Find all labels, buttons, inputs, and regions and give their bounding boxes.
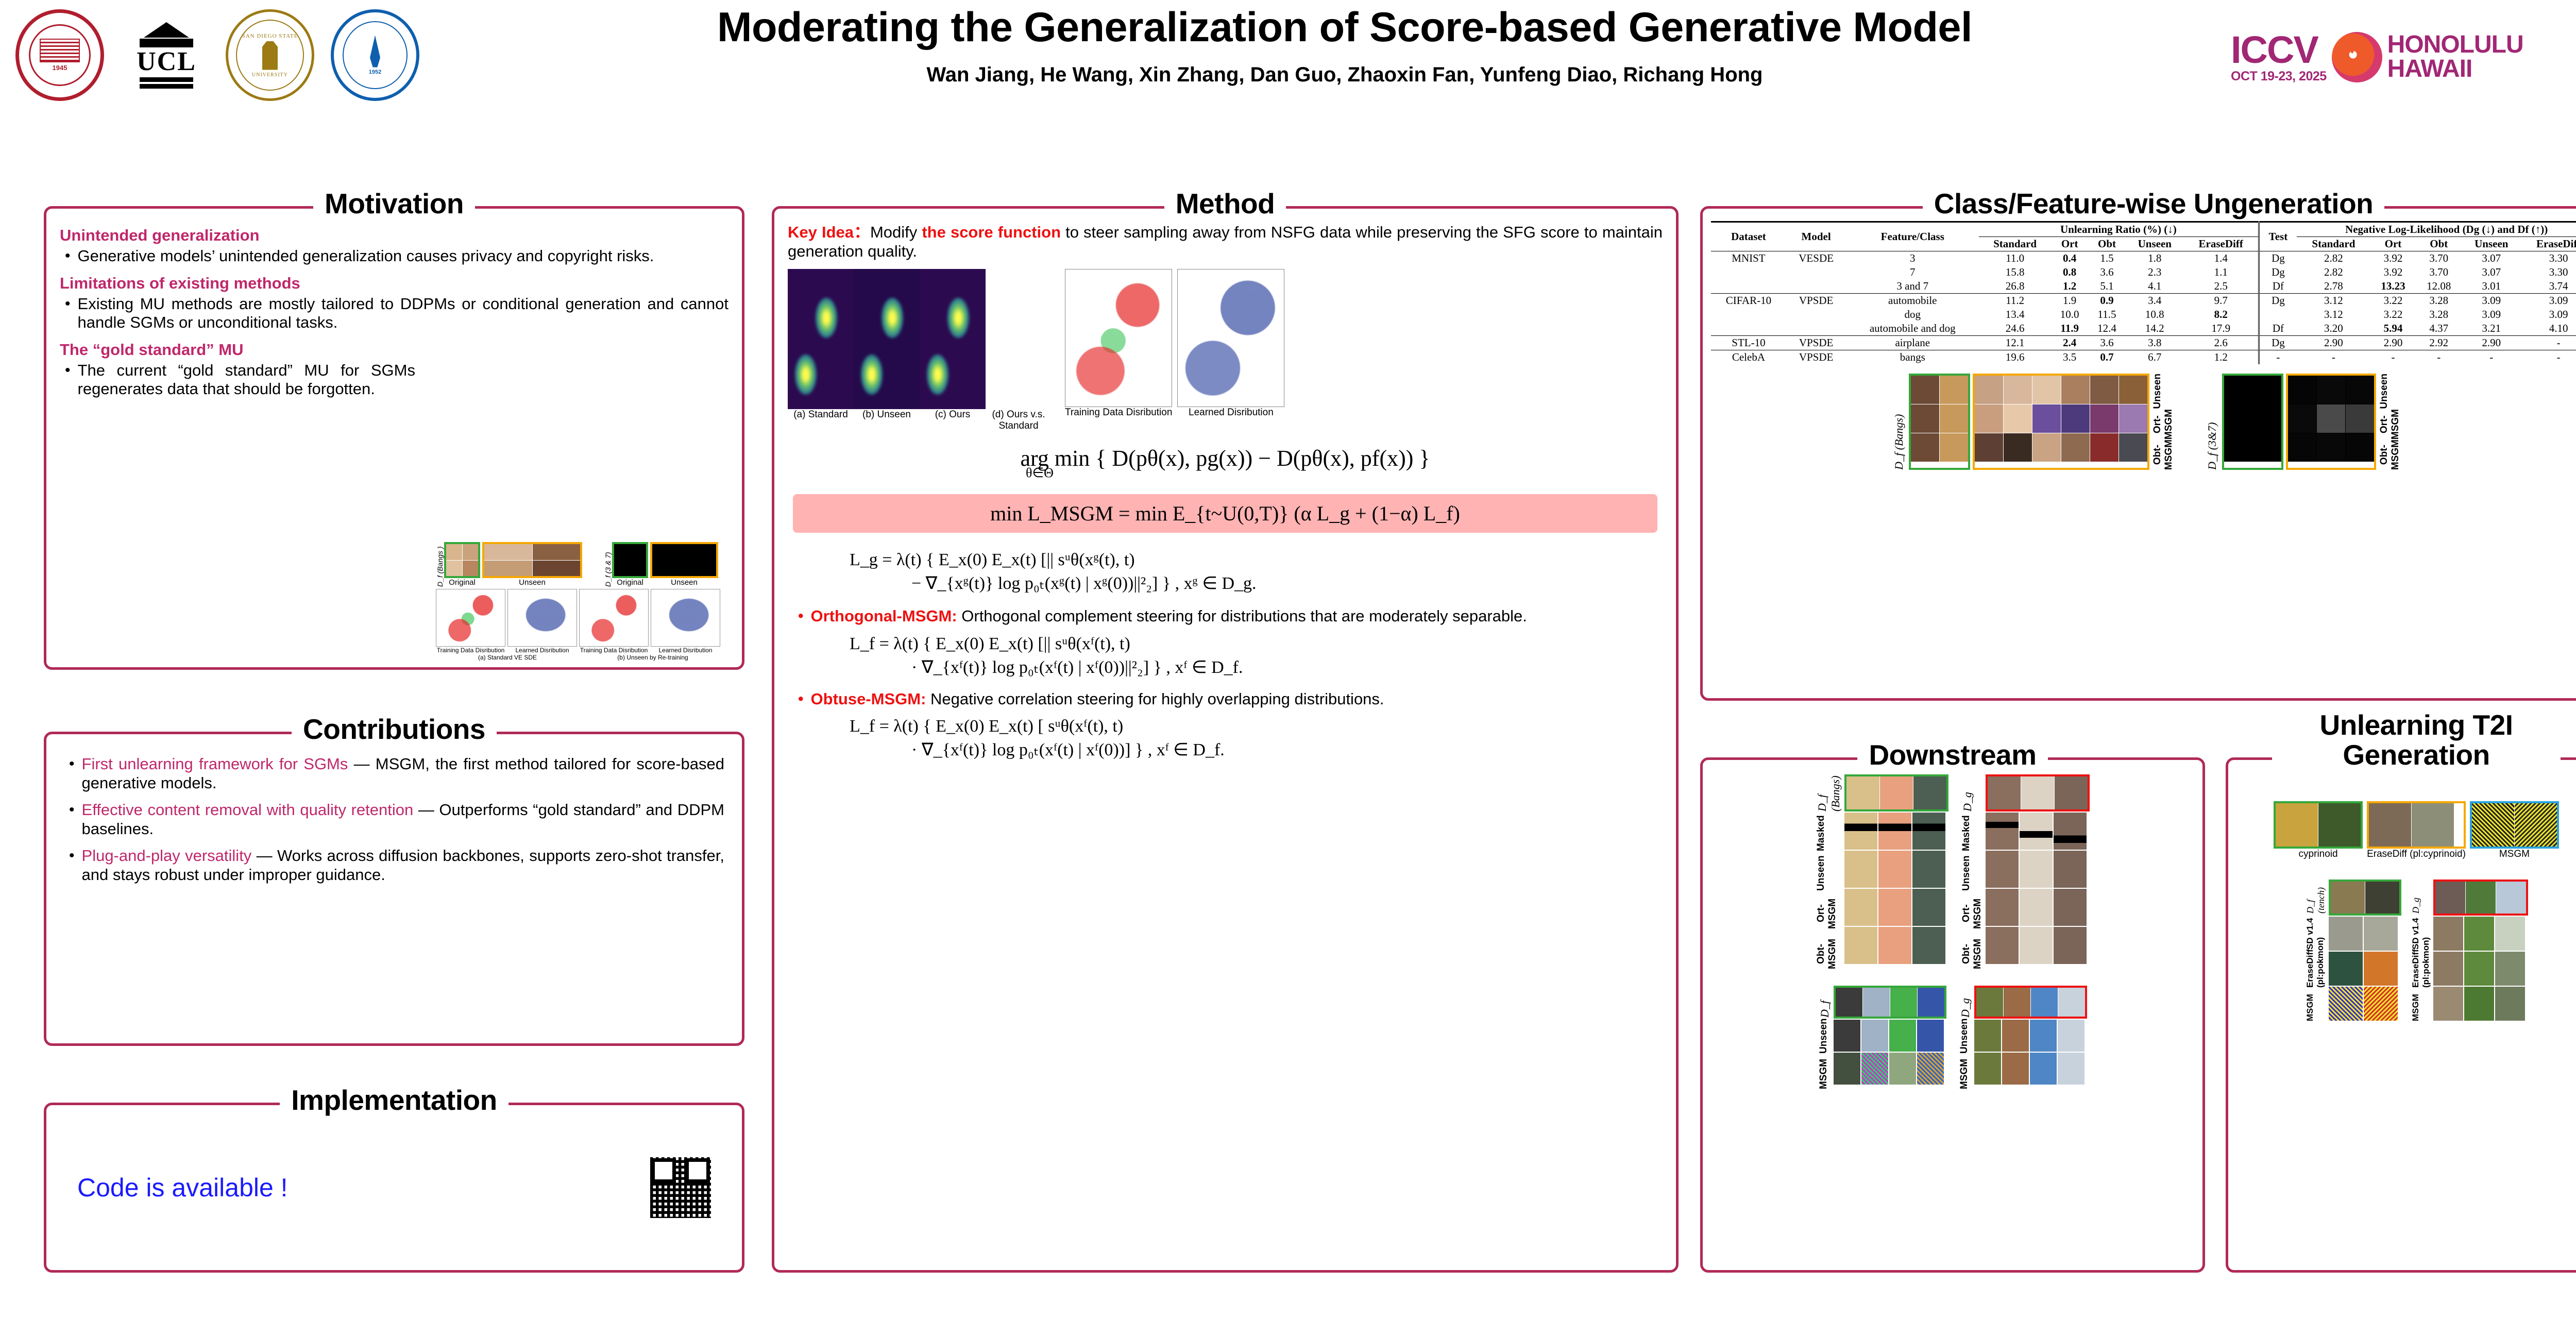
table-row: 3 and 726.81.25.14.12.5Df2.7813.2312.083… xyxy=(1711,279,2576,294)
t2i-left-row-2: MSGM xyxy=(2305,991,2327,1025)
method-fig-caption-5: Learned Disribution xyxy=(1177,407,1284,418)
iccv-conference-logo: ICCV OCT 19-23, 2025 HONOLULU HAWAII xyxy=(2231,31,2523,83)
cell-nll: 3.30 xyxy=(2521,265,2576,279)
cell-nll: - xyxy=(2521,350,2576,365)
equation-msgm-text: min L_MSGM = min E_{t~U(0,T)} (α L_g + (… xyxy=(990,502,1460,525)
cell-nll: 3.22 xyxy=(2370,294,2416,308)
th-nll-ort: Ort xyxy=(2370,237,2416,251)
mot-collabel-2: Original xyxy=(612,578,648,587)
cell-unlearning-ratio: 13.4 xyxy=(1979,308,2051,322)
cell-unlearning-ratio: 4.1 xyxy=(2126,279,2184,294)
th-group-unlearning: Unlearning Ratio (%) (↓) xyxy=(1979,222,2259,237)
t2i-erasediff-right xyxy=(2433,952,2528,986)
bullet-dot-icon: • xyxy=(65,361,71,399)
ds-grid-unseen-0 xyxy=(1844,851,1948,888)
t2i-left-col-label: D_f (tench) xyxy=(2305,880,2327,914)
cell-nll: - xyxy=(2370,350,2416,365)
mot-collabel-3: Unseen xyxy=(650,578,718,587)
cell-unlearning-ratio: 11.5 xyxy=(2088,308,2125,322)
ucl-logo: UCL xyxy=(121,9,212,101)
scatter-plot-learned-a xyxy=(507,589,577,647)
th-nll-obt: Obt xyxy=(2416,237,2462,251)
sdsu-top-text: SAN DIEGO STATE xyxy=(242,33,298,39)
motivation-fig-right-rowlabel: D_f (3 & 7) xyxy=(604,542,612,587)
cell-unlearning-ratio: 11.0 xyxy=(1979,251,2051,266)
th-dataset: Dataset xyxy=(1711,222,1786,251)
method-fig-caption-4: Training Data Disribution xyxy=(1065,407,1172,418)
cell-dataset: CIFAR-10 xyxy=(1711,294,1786,308)
cell-model xyxy=(1786,308,1846,322)
cell-unlearning-ratio: 1.8 xyxy=(2126,251,2184,266)
cell-unlearning-ratio: 2.4 xyxy=(2051,336,2088,350)
downstream-block-0: D_f (Bangs) Masked Unseen Ort- MSGM Obt-… xyxy=(1816,774,1948,972)
th-ur-erasediff: EraseDiff xyxy=(2184,237,2259,251)
cf-row-label-ort-msgm-2: Ort- MSGM xyxy=(2379,409,2401,439)
cf-row-label-obt-msgm-2: Obt- MSGM xyxy=(2379,439,2401,470)
cell-test: Dg xyxy=(2259,265,2297,279)
cell-nll: 2.90 xyxy=(2297,336,2370,350)
cell-unlearning-ratio: 24.6 xyxy=(1979,322,2051,336)
cell-dataset: MNIST xyxy=(1711,251,1786,266)
t2i-sdv14-left xyxy=(2329,917,2401,951)
cell-unlearning-ratio: 6.7 xyxy=(2126,350,2184,365)
contribution-item-0: • First unlearning framework for SGMs — … xyxy=(69,755,724,792)
cell-unlearning-ratio: 0.9 xyxy=(2088,294,2125,308)
cf-row-label-ort-msgm: Ort- MSGM xyxy=(2152,409,2175,439)
t2i-caption-0: cyprinoid xyxy=(2274,849,2363,860)
cell-nll: - xyxy=(2521,336,2576,350)
t2i-sdv14-right xyxy=(2433,917,2528,951)
method-panel: Method Key Idea：Modify the score functio… xyxy=(772,206,1679,1273)
ds-col-label-3: D_g xyxy=(1959,986,1972,1018)
equation-lf-obtuse: L_f = λ(t) { E_x(0) E_x(t) [ sᵘθ(xᶠ(t), … xyxy=(793,717,1657,760)
cell-unlearning-ratio: 12.4 xyxy=(2088,322,2125,336)
variant-desc-1: Negative correlation steering for highly… xyxy=(926,690,1384,708)
motivation-bullet-1: • Existing MU methods are mostly tailore… xyxy=(65,295,728,332)
t2i-panel: Unlearning T2I Generation cyprinoid Eras… xyxy=(2226,757,2576,1273)
motivation-bullet-0: • Generative models’ unintended generali… xyxy=(65,247,728,266)
th-model: Model xyxy=(1786,222,1846,251)
scatter-caption-0: Training Data Disribution xyxy=(436,647,505,654)
cell-unlearning-ratio: 0.7 xyxy=(2088,350,2125,365)
cell-unlearning-ratio: 1.9 xyxy=(2051,294,2088,308)
contribution-lead-1: Effective content removal with quality r… xyxy=(82,801,414,819)
downstream-block-2: D_f Unseen MSGM xyxy=(1818,986,1946,1090)
cell-test: Df xyxy=(2259,279,2297,294)
cell-nll: - xyxy=(2462,350,2521,365)
class-feature-title: Class/Feature-wise Ungeneration xyxy=(1923,188,2385,219)
scatter-caption-3: Learned Disribution xyxy=(651,647,720,654)
contribution-lead-0: First unlearning framework for SGMs xyxy=(82,755,348,773)
cell-nll: 3.09 xyxy=(2521,294,2576,308)
downstream-block-1: D_g Masked Unseen Ort- MSGM Obt- MSGM xyxy=(1961,774,2090,972)
vector-field-ours-vs-standard xyxy=(986,269,1052,409)
author-list: Wan Jiang, He Wang, Xin Zhang, Dan Guo, … xyxy=(495,63,2195,87)
motivation-figure: D_f (Bangs ) Original Unseen xyxy=(436,542,735,661)
cell-nll: 3.70 xyxy=(2416,251,2462,266)
cell-test: - xyxy=(2259,350,2297,365)
cell-nll: - xyxy=(2297,350,2370,365)
ds-col-label-0: D_f (Bangs) xyxy=(1816,774,1842,811)
table-row: MNISTVESDE311.00.41.51.81.4Dg2.823.923.7… xyxy=(1711,251,2576,266)
cell-nll: 2.92 xyxy=(2416,336,2462,350)
cell-unlearning-ratio: 2.3 xyxy=(2126,265,2184,279)
scatter-caption-2: Training Data Disribution xyxy=(579,647,649,654)
cell-nll: 2.82 xyxy=(2297,265,2370,279)
ds-row-obt-1: Obt- MSGM xyxy=(1961,935,1984,972)
logo-row: 1945 UCL SAN DIEGO STATE UNIVERSITY 1952 xyxy=(15,9,422,101)
san-diego-state-university-logo: SAN DIEGO STATE UNIVERSITY xyxy=(226,9,317,101)
bullet-dot-icon: • xyxy=(69,755,75,792)
motivation-bullet-text-1: Existing MU methods are mostly tailored … xyxy=(78,295,728,332)
cell-nll: 4.10 xyxy=(2521,322,2576,336)
cell-nll: 4.37 xyxy=(2416,322,2462,336)
ds-row-ort-0: Ort- MSGM xyxy=(1816,895,1842,932)
th-nll-standard: Standard xyxy=(2297,237,2370,251)
bullet-dot-icon: • xyxy=(69,847,75,884)
t2i-right-block: D_g SD v1.4 EraseDiff (pl:pokmon) MSGM xyxy=(2411,880,2528,1025)
ds-grid-cifar-msgm xyxy=(1834,1053,1946,1085)
ds-row-unseen-0: Unseen xyxy=(1816,855,1842,892)
t2i-right-row-1: EraseDiff (pl:pokmon) xyxy=(2411,954,2431,988)
method-scatter-learned xyxy=(1177,269,1284,407)
t2i-msgm-grid xyxy=(2472,803,2557,847)
beihang-university-logo: 1952 xyxy=(331,9,422,101)
ds-col-label-2: D_f xyxy=(1818,986,1832,1018)
method-figure: (a) Standard (b) Unseen (c) Ours (d) Our… xyxy=(774,261,1676,432)
equation-lg-line2: − ∇_{xᵍ(t)} log p₀ₜ(xᵍ(t) | xᵍ(0))||²₂] … xyxy=(850,573,1657,594)
cell-nll: 2.90 xyxy=(2462,336,2521,350)
equation-objective-subscript: θ∈Θ xyxy=(422,465,1657,481)
cell-unlearning-ratio: 26.8 xyxy=(1979,279,2051,294)
t2i-erasediff-grid xyxy=(2369,803,2464,847)
cell-feature: automobile and dog xyxy=(1846,322,1979,336)
cell-dataset xyxy=(1711,265,1786,279)
cell-unlearning-ratio: 1.2 xyxy=(2051,279,2088,294)
sdsu-bottom-text: UNIVERSITY xyxy=(252,72,288,78)
cell-model xyxy=(1786,279,1846,294)
cell-unlearning-ratio: 3.8 xyxy=(2126,336,2184,350)
motivation-head-1: Limitations of existing methods xyxy=(60,274,728,293)
t2i-msgm-right xyxy=(2433,987,2528,1021)
page-title: Moderating the Generalization of Score-b… xyxy=(495,5,2195,50)
t2i-cyprinoid-grid xyxy=(2276,803,2361,847)
contribution-item-2: • Plug-and-play versatility — Works acro… xyxy=(69,847,724,884)
table-row: automobile and dog24.611.912.414.217.9Df… xyxy=(1711,322,2576,336)
method-fig-caption-0: (a) Standard xyxy=(788,409,854,432)
cell-unlearning-ratio: 12.1 xyxy=(1979,336,2051,350)
vector-field-unseen xyxy=(854,269,920,409)
ds-grid-cifar-dg-msgm xyxy=(1974,1053,2087,1085)
mot-subcaption-1: (b) Unseen by Re-training xyxy=(581,654,724,661)
cell-unlearning-ratio: 1.1 xyxy=(2184,265,2259,279)
ds-row-unseen-1: Unseen xyxy=(1961,855,1984,892)
ds-row-ort-1: Ort- MSGM xyxy=(1961,895,1984,932)
hefei-university-of-technology-logo: 1945 xyxy=(15,9,107,101)
t2i-dg-grid xyxy=(2435,882,2526,914)
cell-nll: 3.28 xyxy=(2416,294,2462,308)
method-scatter-train xyxy=(1065,269,1172,407)
method-fig-caption-1: (b) Unseen xyxy=(854,409,920,432)
cell-test: Df xyxy=(2259,322,2297,336)
implementation-title: Implementation xyxy=(280,1084,508,1116)
ds-grid-dg xyxy=(1988,776,2088,809)
scatter-caption-1: Learned Disribution xyxy=(507,647,577,654)
ds-grid-obt-0 xyxy=(1844,927,1948,964)
implementation-panel: Implementation Code is available ! xyxy=(44,1103,744,1273)
mot-collabel-1: Unseen xyxy=(482,578,582,587)
cell-unlearning-ratio: 1.5 xyxy=(2088,251,2125,266)
ds-grid-cifar-unseen xyxy=(1834,1020,1946,1052)
cell-unlearning-ratio: 0.8 xyxy=(2051,265,2088,279)
scatter-plot-train-b xyxy=(579,589,649,647)
class-feature-panel: Class/Feature-wise Ungeneration Dataset … xyxy=(1700,206,2576,701)
cell-dataset xyxy=(1711,322,1786,336)
ds-grid-ort-1 xyxy=(1986,889,2090,926)
results-table: Dataset Model Feature/Class Unlearning R… xyxy=(1711,221,2576,364)
motivation-bullet-2: • The current “gold standard” MU for SGM… xyxy=(65,361,415,399)
cell-unlearning-ratio: 0.4 xyxy=(2051,251,2088,266)
table-row: CIFAR-10VPSDEautomobile11.21.90.93.49.7D… xyxy=(1711,294,2576,308)
ds-row-msgm-2: MSGM xyxy=(1818,1058,1832,1090)
t2i-caption-1: EraseDiff (pl:cyprinoid) xyxy=(2367,849,2466,860)
method-variant-0: • Orthogonal-MSGM: Orthogonal complement… xyxy=(798,607,1657,626)
cell-unlearning-ratio: 14.2 xyxy=(2126,322,2184,336)
mnist-unlearned-grid xyxy=(2288,376,2374,462)
cell-nll: 3.92 xyxy=(2370,251,2416,266)
cell-unlearning-ratio: 19.6 xyxy=(1979,350,2051,365)
ds-grid-masked-0 xyxy=(1844,813,1948,850)
cell-nll: 3.74 xyxy=(2521,279,2576,294)
cell-unlearning-ratio: 3.6 xyxy=(2088,265,2125,279)
cell-unlearning-ratio: 11.2 xyxy=(1979,294,2051,308)
cell-unlearning-ratio: 5.1 xyxy=(2088,279,2125,294)
cell-nll: 2.82 xyxy=(2297,251,2370,266)
motivation-bullet-text-2: The current “gold standard” MU for SGMs … xyxy=(78,361,415,399)
ds-row-obt-0: Obt- MSGM xyxy=(1816,935,1842,972)
cell-dataset: CelebA xyxy=(1711,350,1786,365)
scatter-plot-train-a xyxy=(436,589,505,647)
ucl-wordmark: UCL xyxy=(137,48,196,75)
cell-model: VPSDE xyxy=(1786,294,1846,308)
cell-nll: 3.92 xyxy=(2370,265,2416,279)
variant-name-0: Orthogonal-MSGM: xyxy=(811,607,957,625)
celeba-unlearned-grid xyxy=(1975,376,2147,462)
iccv-dates: OCT 19-23, 2025 xyxy=(2231,70,2327,83)
t2i-right-row-2: MSGM xyxy=(2411,991,2431,1025)
mnist-original-grid xyxy=(2224,376,2281,462)
cell-nll: 12.08 xyxy=(2416,279,2462,294)
cell-nll: 2.78 xyxy=(2297,279,2370,294)
poster-header: 1945 UCL SAN DIEGO STATE UNIVERSITY 1952… xyxy=(0,0,2576,160)
cf-row-label-obt-msgm: Obt- MSGM xyxy=(2152,439,2175,470)
cf-row-label-unseen-2: Unseen xyxy=(2379,374,2401,409)
cell-feature: dog xyxy=(1846,308,1979,322)
cell-unlearning-ratio: 2.5 xyxy=(2184,279,2259,294)
code-available-link[interactable]: Code is available ! xyxy=(77,1173,288,1203)
th-nll-unseen: Unseen xyxy=(2462,237,2521,251)
cell-unlearning-ratio: 3.5 xyxy=(2051,350,2088,365)
key-idea-emphasis: the score function xyxy=(922,223,1061,241)
bullet-dot-icon: • xyxy=(65,247,71,266)
mot-subcaption-0: (a) Standard VE SDE xyxy=(436,654,579,661)
th-nll-erasediff: EraseDiff xyxy=(2521,237,2576,251)
t2i-tench-grid xyxy=(2331,882,2399,914)
ds-grid-cifar-dg-unseen xyxy=(1974,1020,2087,1052)
method-title: Method xyxy=(1164,188,1286,219)
iccv-state: HAWAII xyxy=(2387,57,2523,81)
t2i-erasediff-left xyxy=(2329,952,2401,986)
cell-test: Dg xyxy=(2259,294,2297,308)
hibiscus-flower-icon xyxy=(2332,32,2382,82)
mot-collabel-0: Original xyxy=(444,578,480,587)
key-idea-label: Key Idea： xyxy=(788,223,870,241)
downstream-block-3: D_g Unseen MSGM xyxy=(1959,986,2087,1090)
cell-nll: 2.90 xyxy=(2370,336,2416,350)
ds-grid-unseen-1 xyxy=(1986,851,2090,888)
vector-field-ours xyxy=(920,269,986,409)
table-row: dog13.410.011.510.88.23.123.223.283.093.… xyxy=(1711,308,2576,322)
cell-nll: 3.20 xyxy=(2297,322,2370,336)
cell-test xyxy=(2259,308,2297,322)
equation-lf1-line1: L_f = λ(t) { E_x(0) E_x(t) [|| sᵘθ(xᶠ(t)… xyxy=(850,634,1657,654)
t2i-left-row-1: EraseDiff (pl:pokmon) xyxy=(2305,954,2327,988)
scatter-plot-learned-b xyxy=(651,589,720,647)
cell-test: Dg xyxy=(2259,336,2297,350)
motivation-bullet-text-0: Generative models’ unintended generaliza… xyxy=(78,247,654,266)
equation-objective: arg min { D(pθ(x), pg(x)) − D(pθ(x), pf(… xyxy=(793,445,1657,481)
cell-unlearning-ratio: 11.9 xyxy=(2051,322,2088,336)
method-fig-caption-2: (c) Ours xyxy=(920,409,986,432)
th-test: Test xyxy=(2259,222,2297,251)
equation-lf-orthogonal: L_f = λ(t) { E_x(0) E_x(t) [|| sᵘθ(xᶠ(t)… xyxy=(793,634,1657,678)
qr-code-icon[interactable] xyxy=(650,1157,711,1218)
cell-feature: 7 xyxy=(1846,265,1979,279)
cell-nll: 5.94 xyxy=(2370,322,2416,336)
cell-model: VESDE xyxy=(1786,251,1846,266)
ds-grid-masked-1 xyxy=(1986,813,2090,850)
contributions-title: Contributions xyxy=(292,713,497,745)
table-row: STL-10VPSDEairplane12.12.43.63.82.6Dg2.9… xyxy=(1711,336,2576,350)
bullet-dot-icon: • xyxy=(69,801,75,838)
ds-col-label-1: D_g xyxy=(1961,774,1984,811)
downstream-panel: Downstream D_f (Bangs) Masked Unseen Ort… xyxy=(1700,757,2205,1273)
cell-model: VPSDE xyxy=(1786,336,1846,350)
cell-model: VPSDE xyxy=(1786,350,1846,365)
cell-nll: 3.07 xyxy=(2462,265,2521,279)
cf-row-label-unseen: Unseen xyxy=(2152,374,2175,409)
ds-row-msgm-3: MSGM xyxy=(1959,1058,1972,1090)
cell-model xyxy=(1786,265,1846,279)
cell-nll: 3.21 xyxy=(2462,322,2521,336)
contribution-item-1: • Effective content removal with quality… xyxy=(69,801,724,838)
motivation-panel: Motivation Unintended generalization • G… xyxy=(44,206,744,670)
th-ur-obt: Obt xyxy=(2088,237,2125,251)
method-fig-caption-3: (d) Ours v.s. Standard xyxy=(986,409,1052,432)
contribution-lead-2: Plug-and-play versatility xyxy=(82,847,252,865)
cell-feature: automobile xyxy=(1846,294,1979,308)
bullet-dot-icon: • xyxy=(798,607,804,626)
cell-unlearning-ratio: 1.2 xyxy=(2184,350,2259,365)
th-ur-ort: Ort xyxy=(2051,237,2088,251)
t2i-right-col-label: D_g xyxy=(2411,880,2431,914)
cell-nll: 13.23 xyxy=(2370,279,2416,294)
iccv-wordmark: ICCV xyxy=(2231,31,2327,69)
buaa-year: 1952 xyxy=(369,69,381,75)
key-idea-line: Key Idea：Modify the score function to st… xyxy=(788,223,1663,261)
cell-nll: 3.12 xyxy=(2297,308,2370,322)
cell-unlearning-ratio: 3.6 xyxy=(2088,336,2125,350)
title-block: Moderating the Generalization of Score-b… xyxy=(495,5,2195,87)
equation-lf2-line1: L_f = λ(t) { E_x(0) E_x(t) [ sᵘθ(xᶠ(t), … xyxy=(850,717,1657,736)
ds-row-unseen-2: Unseen xyxy=(1818,1022,1832,1054)
cell-nll: 3.01 xyxy=(2462,279,2521,294)
cell-dataset xyxy=(1711,279,1786,294)
ds-row-masked-1: Masked xyxy=(1961,815,1984,852)
ds-grid-obt-1 xyxy=(1986,927,2090,964)
motivation-title: Motivation xyxy=(313,188,475,219)
variant-desc-0: Orthogonal complement steering for distr… xyxy=(957,607,1527,625)
ds-row-unseen-3: Unseen xyxy=(1959,1022,1972,1054)
equation-objective-text: arg min { D(pθ(x), pg(x)) − D(pθ(x), pf(… xyxy=(1020,446,1430,471)
contributions-panel: Contributions • First unlearning framewo… xyxy=(44,732,744,1046)
th-ur-unseen: Unseen xyxy=(2126,237,2184,251)
equation-lg-line1: L_g = λ(t) { E_x(0) E_x(t) [|| sᵘθ(xᵍ(t)… xyxy=(850,550,1657,570)
cell-nll: 3.09 xyxy=(2462,294,2521,308)
cell-unlearning-ratio: 3.4 xyxy=(2126,294,2184,308)
equation-msgm: min L_MSGM = min E_{t~U(0,T)} (α L_g + (… xyxy=(793,494,1657,533)
t2i-title: Unlearning T2I Generation xyxy=(2272,711,2561,770)
vector-field-standard xyxy=(788,269,854,409)
cell-dataset xyxy=(1711,308,1786,322)
cell-unlearning-ratio: 2.6 xyxy=(2184,336,2259,350)
cell-nll: 3.09 xyxy=(2521,308,2576,322)
motivation-head-0: Unintended generalization xyxy=(60,226,728,245)
celeba-original-grid xyxy=(1911,376,1968,462)
ds-grid-cifar-df xyxy=(1836,988,1944,1017)
key-idea-plain1: Modify xyxy=(870,223,922,241)
equation-lf2-line2: · ∇_{xᶠ(t)} log p₀ₜ(xᶠ(t) | xᶠ(0))] } , … xyxy=(850,739,1657,760)
cell-nll: 3.07 xyxy=(2462,251,2521,266)
t2i-left-block: D_f (tench) SD v1.4 EraseDiff (pl:pokmon… xyxy=(2305,880,2401,1025)
cell-model xyxy=(1786,322,1846,336)
cell-nll: - xyxy=(2416,350,2462,365)
cf-right-grid-label: D_f (3&7) xyxy=(2206,374,2219,470)
ds-grid-cifar-dg xyxy=(1976,988,2085,1017)
cell-unlearning-ratio: 10.0 xyxy=(2051,308,2088,322)
cell-unlearning-ratio: 10.8 xyxy=(2126,308,2184,322)
cell-nll: 3.12 xyxy=(2297,294,2370,308)
method-variant-1: • Obtuse-MSGM: Negative correlation stee… xyxy=(798,690,1657,709)
motivation-head-2: The “gold standard” MU xyxy=(60,341,728,359)
variant-name-1: Obtuse-MSGM: xyxy=(811,690,926,708)
cell-nll: 3.28 xyxy=(2416,308,2462,322)
cell-feature: 3 and 7 xyxy=(1846,279,1979,294)
cell-unlearning-ratio: 1.4 xyxy=(2184,251,2259,266)
ds-row-masked-0: Masked xyxy=(1816,815,1842,852)
cf-left-grid-label: D_f (Bangs) xyxy=(1892,374,1906,470)
cell-unlearning-ratio: 17.9 xyxy=(2184,322,2259,336)
cell-unlearning-ratio: 15.8 xyxy=(1979,265,2051,279)
cell-nll: 3.30 xyxy=(2521,251,2576,266)
bullet-dot-icon: • xyxy=(798,690,804,709)
ds-grid-df-bangs xyxy=(1846,776,1946,809)
table-row: 715.80.83.62.31.1Dg2.823.923.703.073.30 xyxy=(1711,265,2576,279)
t2i-caption-2: MSGM xyxy=(2470,849,2559,860)
cell-feature: airplane xyxy=(1846,336,1979,350)
cell-unlearning-ratio: 9.7 xyxy=(2184,294,2259,308)
cell-nll: 3.70 xyxy=(2416,265,2462,279)
